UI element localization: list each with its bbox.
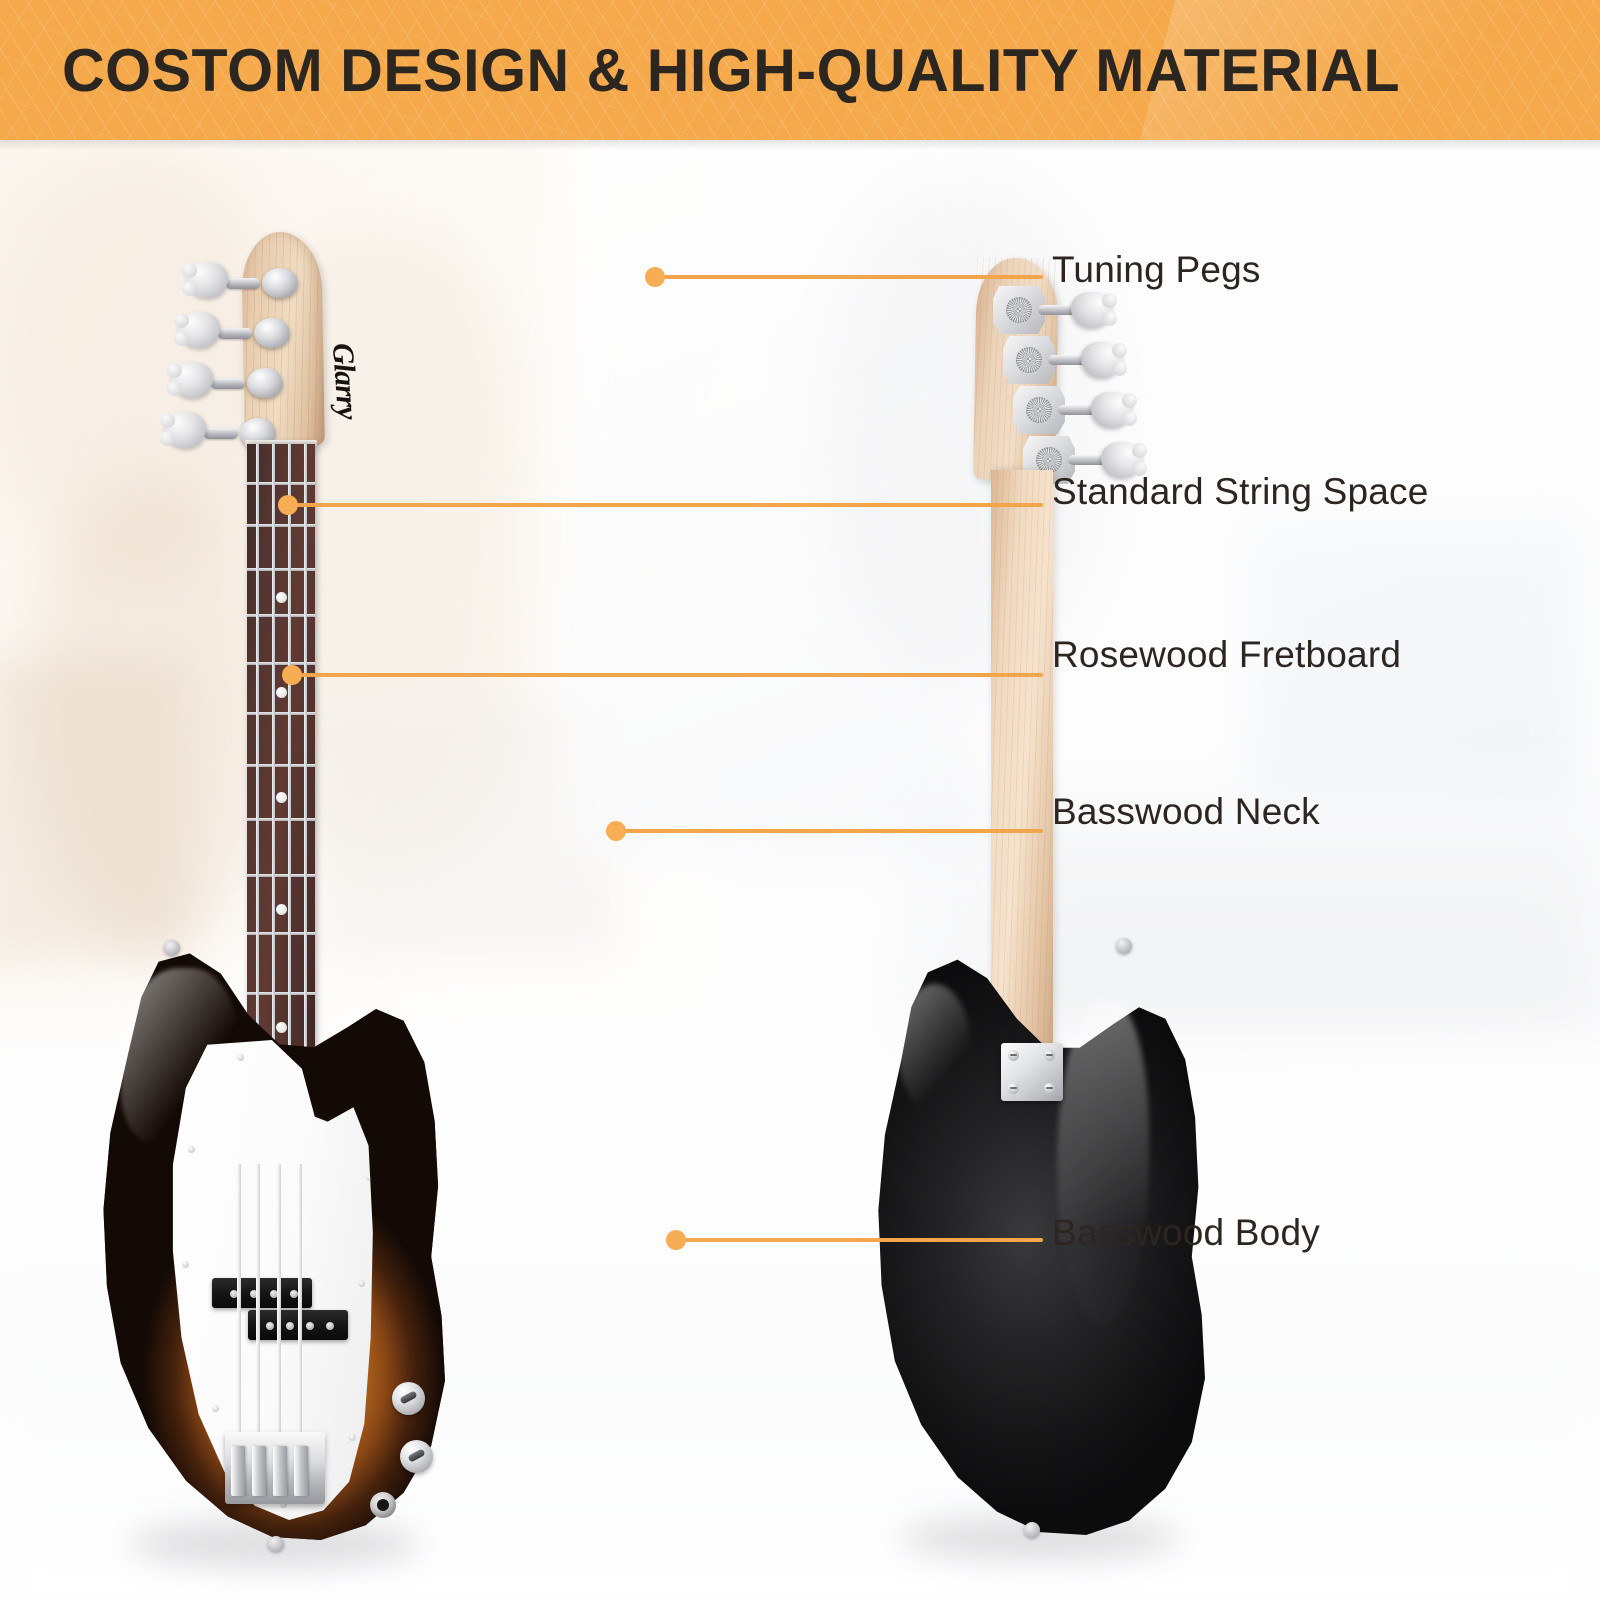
callout-dot-standard-string-space[interactable]: [278, 495, 298, 515]
tuning-peg-post-3: [247, 368, 283, 398]
neck-joint-plate: [1001, 1043, 1063, 1101]
tuning-peg-button-4: [164, 412, 206, 448]
tuning-peg-shaft-1: [226, 278, 260, 289]
strap-button-bottom: [268, 1536, 284, 1552]
output-jack: [370, 1492, 396, 1518]
bridge-saddle: [231, 1446, 245, 1496]
fret-inlay-dot: [276, 792, 287, 803]
callout-line-tuning-pegs: [664, 275, 1043, 279]
bridge-saddle: [252, 1446, 266, 1496]
pickguard-screw: [237, 1054, 244, 1061]
infographic-page: COSTOM DESIGN & HIGH-QUALITY MATERIAL Gl…: [0, 0, 1600, 1600]
neck-plate-screw: [1044, 1050, 1055, 1061]
tuning-peg-post-1: [262, 268, 298, 298]
pickup-pole: [286, 1322, 294, 1330]
body-back-gloss-right: [1057, 1001, 1149, 1326]
pickguard-screw: [212, 1405, 219, 1412]
callout-label-basswood-body: Basswood Body: [1052, 1212, 1320, 1254]
tone-knob: [400, 1440, 433, 1473]
neck-plate-screw: [1008, 1050, 1019, 1061]
body-string: [256, 1164, 260, 1444]
strap-button-top: [164, 940, 180, 956]
tuning-peg-button-back-1: [1071, 292, 1113, 328]
tuning-peg-shaft-3: [211, 378, 245, 389]
bass-guitar-back-view: [430, 0, 850, 1600]
pickup-pole: [266, 1322, 274, 1330]
tuning-peg-button-back-2: [1081, 342, 1123, 378]
pickup-upper: [212, 1278, 312, 1308]
callout-label-basswood-neck: Basswood Neck: [1052, 791, 1320, 833]
bridge-saddle: [273, 1446, 287, 1496]
fret-inlay-dot: [276, 687, 287, 698]
pickguard-screw: [188, 1146, 195, 1153]
pickguard-screw: [182, 1261, 189, 1268]
pickup-pole: [306, 1322, 314, 1330]
neck-plate-screw: [1044, 1083, 1055, 1094]
neck-plate-screw: [1008, 1083, 1019, 1094]
bridge-saddle: [294, 1446, 308, 1496]
callout-dot-tuning-pegs[interactable]: [645, 267, 665, 287]
callout-label-standard-string-space: Standard String Space: [1052, 471, 1429, 513]
fret-inlay-dot: [276, 592, 287, 603]
callout-dot-basswood-neck[interactable]: [606, 821, 626, 841]
tuning-peg-button-back-3: [1091, 392, 1133, 428]
callout-line-standard-string-space: [297, 503, 1043, 507]
callout-line-basswood-neck: [625, 829, 1043, 833]
callout-line-basswood-body: [685, 1238, 1043, 1242]
body-string: [298, 1164, 302, 1444]
callout-label-tuning-pegs: Tuning Pegs: [1052, 249, 1261, 291]
body-string: [277, 1164, 281, 1444]
callout-line-rosewood-fretboard: [301, 673, 1043, 677]
callout-label-rosewood-fretboard: Rosewood Fretboard: [1052, 634, 1401, 676]
fret-inlay-dot: [276, 904, 287, 915]
tuning-peg-shaft-2: [218, 328, 252, 339]
pickup-pole: [290, 1290, 298, 1298]
bridge: [225, 1432, 325, 1504]
brand-logo: Glarry: [269, 342, 363, 408]
strap-button-back-top: [1116, 938, 1132, 954]
tuning-peg-button-2: [178, 312, 220, 348]
pickguard-screw: [358, 1280, 365, 1287]
tuning-peg-post-2: [254, 318, 290, 348]
strap-button-back-bottom: [1024, 1522, 1040, 1538]
callout-dot-rosewood-fretboard[interactable]: [282, 665, 302, 685]
pickguard-screw: [349, 1434, 356, 1441]
body-back-gloss-left: [898, 984, 971, 1112]
body-string: [237, 1164, 241, 1444]
tuning-peg-button-1: [186, 262, 228, 298]
tuning-peg-button-3: [171, 362, 213, 398]
pickup-pole: [326, 1322, 334, 1330]
callout-dot-basswood-body[interactable]: [666, 1230, 686, 1250]
tuning-peg-shaft-4: [204, 428, 238, 439]
volume-knob: [392, 1382, 425, 1415]
